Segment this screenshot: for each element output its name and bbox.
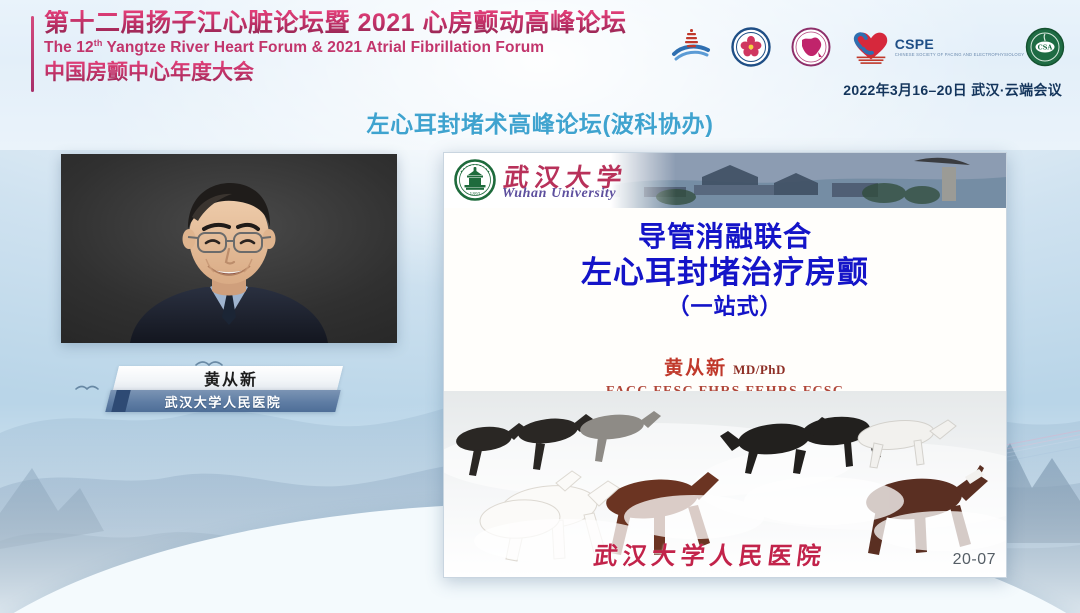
speaker-name: 黄从新	[108, 366, 340, 390]
cspe-logo-text: CSPE CHINESE SOCIETY OF PACING AND ELECT…	[895, 37, 1025, 57]
slide-title-line3: （一站式）	[444, 294, 1006, 321]
slide-title-line2: 左心耳封堵治疗房颤	[444, 254, 1006, 292]
conference-date-location: 2022年3月16–20日 武汉·云端会议	[843, 80, 1062, 100]
cspe-logo: CSPE CHINESE SOCIETY OF PACING AND ELECT…	[910, 26, 1006, 68]
speaker-nameplate: 黄从新 武汉大学人民医院	[108, 366, 340, 390]
wuhan-university-emblem: 1893	[454, 159, 496, 201]
slide-author-line: 黄从新MD/PhD	[444, 353, 1006, 380]
chinese-cardiovascular-health-alliance-logo	[850, 26, 892, 68]
slide-title-block: 导管消融联合 左心耳封堵治疗房颤 （一站式）	[444, 220, 1006, 321]
slide-page-code: 20-07	[953, 551, 996, 569]
yangtze-heart-forum-logo	[670, 26, 712, 68]
running-horses-photo: 武汉大学人民医院 20-07	[444, 391, 1006, 577]
presentation-slide[interactable]: 1893 武汉大学 Wuhan University 导管消融联合 左心耳封堵治…	[443, 152, 1007, 578]
slide-author-name: 黄从新	[664, 358, 727, 379]
slide-university-name-en: Wuhan University	[502, 186, 616, 202]
header-accent-bar	[31, 16, 34, 92]
cspe-logo-subtitle: CHINESE SOCIETY OF PACING AND ELECTROPHY…	[895, 53, 1025, 57]
speaker-video-panel[interactable]	[61, 154, 397, 343]
jiangsu-medical-association-logo	[730, 26, 772, 68]
slide-campus-banner: 1893 武汉大学 Wuhan University	[444, 153, 1006, 208]
cspe-logo-name: CSPE	[895, 37, 1025, 51]
china-af-center-logo	[790, 26, 832, 68]
svg-text:CSA: CSA	[1038, 44, 1054, 52]
session-title: 左心耳封堵术高峰论坛(波科协办)	[0, 105, 1080, 139]
conference-title-cn: 第十二届扬子江心脏论坛暨 2021 心房颤动高峰论坛	[44, 10, 627, 37]
slide-hospital-name: 武汉大学人民医院	[592, 536, 828, 571]
slide-title-area: 导管消融联合 左心耳封堵治疗房颤 （一站式） 黄从新MD/PhD FACC FE…	[444, 208, 1006, 391]
conference-header: 第十二届扬子江心脏论坛暨 2021 心房颤动高峰论坛 The 12th Yang…	[0, 0, 1080, 100]
speaker-portrait	[114, 167, 344, 343]
sponsor-logo-row: CSPE CHINESE SOCIETY OF PACING AND ELECT…	[670, 26, 1066, 68]
slide-title-line1: 导管消融联合	[444, 220, 1006, 254]
svg-text:1893: 1893	[470, 192, 481, 197]
speaker-affiliation: 武汉大学人民医院	[108, 390, 338, 412]
webinar-stage: 第十二届扬子江心脏论坛暨 2021 心房颤动高峰论坛 The 12th Yang…	[0, 0, 1080, 613]
conference-title-en: The 12th Yangtze River Heart Forum & 202…	[44, 38, 627, 58]
header-title-group: 第十二届扬子江心脏论坛暨 2021 心房颤动高峰论坛 The 12th Yang…	[44, 10, 627, 87]
csa-green-logo: CSA	[1024, 26, 1066, 68]
conference-title-en-rest: Yangtze River Heart Forum & 2021 Atrial …	[102, 39, 544, 56]
conference-title-en-lead: The 12	[44, 39, 94, 56]
conference-subtitle-cn: 中国房颤中心年度大会	[44, 60, 627, 86]
slide-author-degree: MD/PhD	[733, 362, 786, 377]
